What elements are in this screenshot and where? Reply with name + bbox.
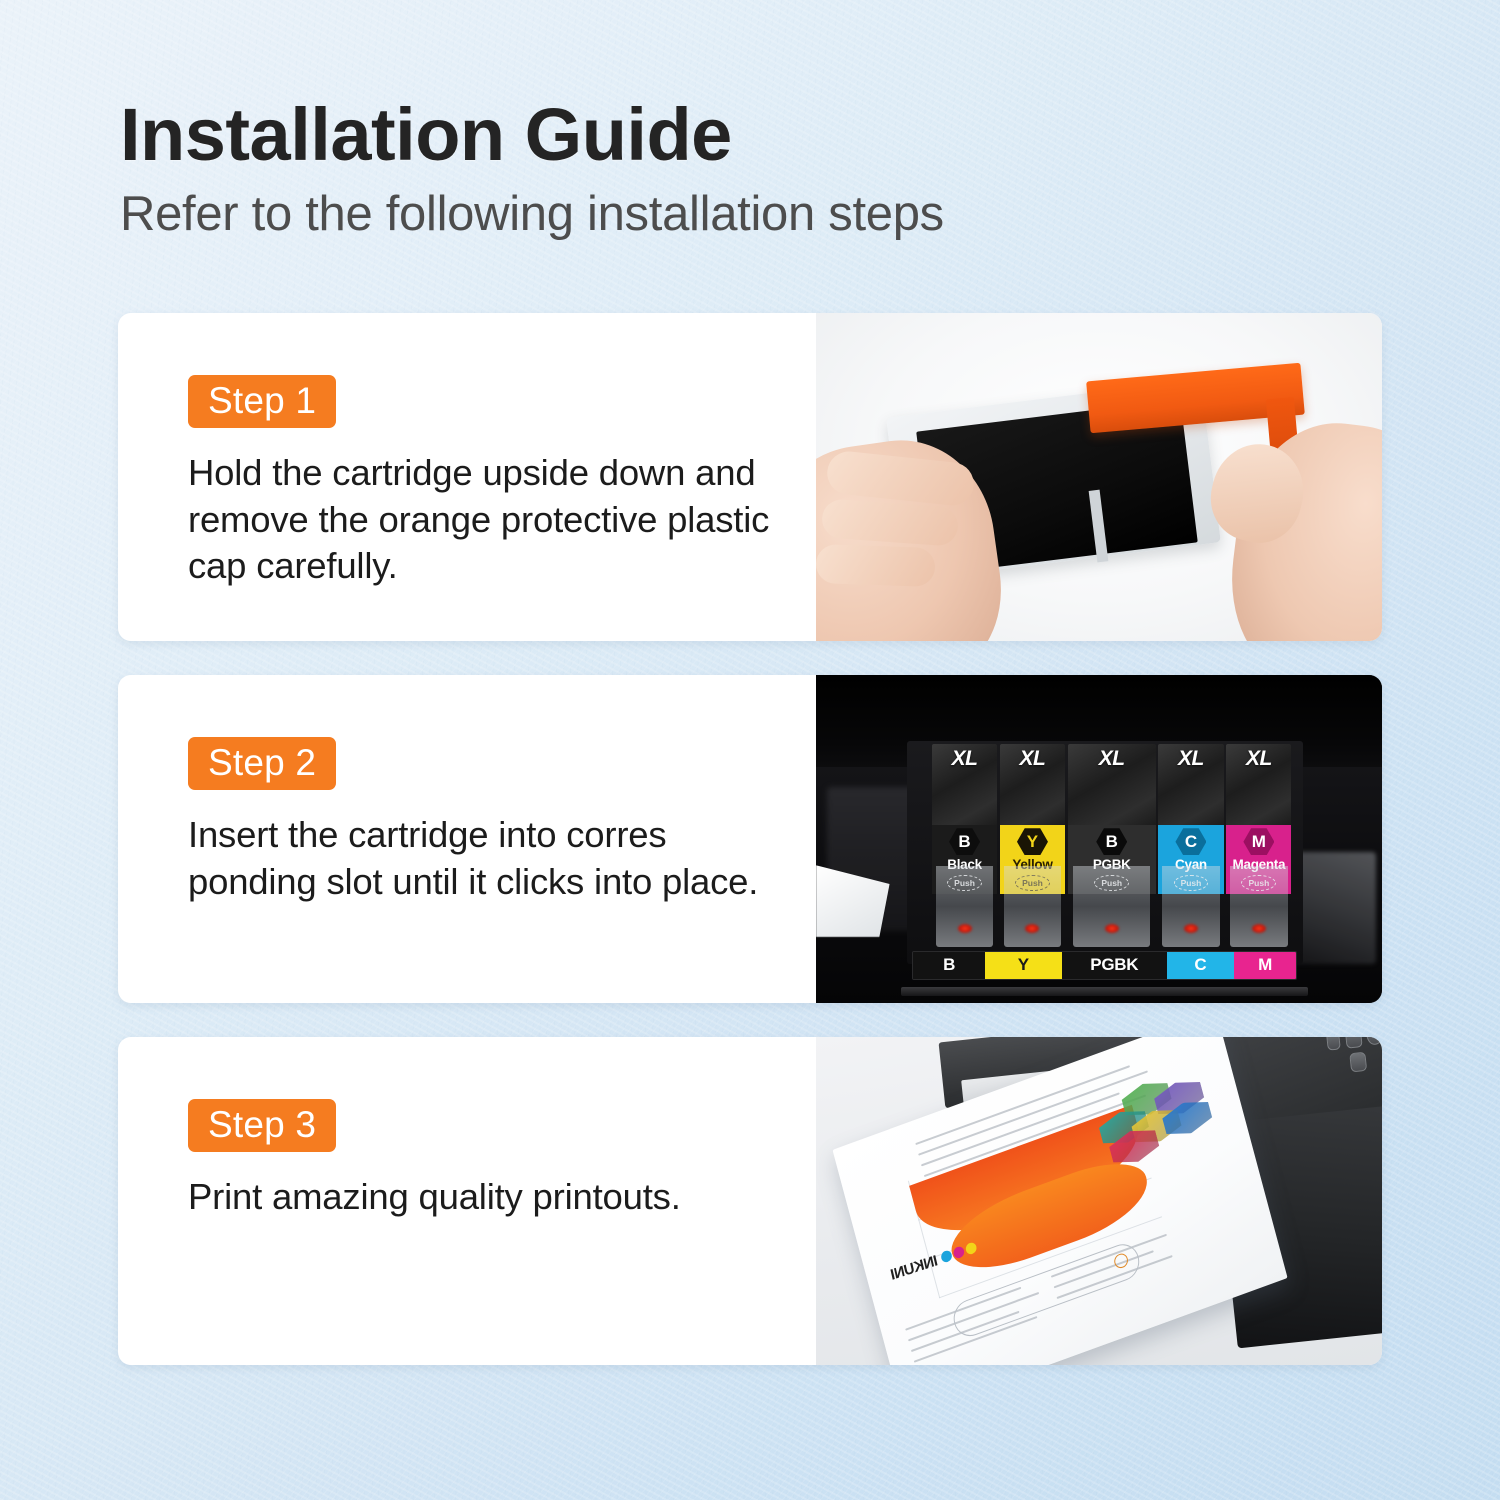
step-card-2: Step 2 Insert the cartridge into corres … — [118, 675, 1382, 1003]
printed-color-cubes — [1085, 1063, 1218, 1174]
logo-dot — [953, 1246, 966, 1260]
step-1-photo — [816, 313, 1382, 641]
cartridge-black[interactable]: XLBBlackPush — [932, 744, 997, 947]
step-1-text: Step 1 Hold the cartridge upside down an… — [118, 313, 816, 641]
cartridge-hex-badge: C — [1175, 828, 1206, 855]
logo-text: INKUNI — [889, 1253, 939, 1285]
step-3-badge: Step 3 — [188, 1099, 336, 1152]
cartridge-clear-body — [1073, 866, 1150, 947]
cartridge-indicator-light — [1184, 924, 1198, 933]
cartridge-clear-body — [1162, 866, 1219, 947]
cartridge-hex-badge: B — [1096, 828, 1127, 855]
slot-label-b: B — [913, 952, 985, 980]
cartridge-hex-badge: Y — [1017, 828, 1048, 855]
cartridge-xl-label: XL — [1246, 747, 1272, 771]
slot-label-c: C — [1167, 952, 1234, 980]
carriage-rail — [901, 987, 1309, 997]
panel-button-2[interactable] — [1345, 1037, 1362, 1049]
cartridge-pgbk[interactable]: XLBPGBKPush — [1068, 744, 1156, 947]
step-2-text: Step 2 Insert the cartridge into corres … — [118, 675, 816, 1003]
cartridge-clear-body — [1230, 866, 1287, 947]
steps-list: Step 1 Hold the cartridge upside down an… — [118, 313, 1382, 1365]
panel-button-4[interactable] — [1349, 1052, 1366, 1072]
step-2-description: Insert the cartridge into corres ponding… — [188, 812, 782, 905]
step-3-photo: INKUNI — [816, 1037, 1382, 1365]
cartridge-cyan[interactable]: XLCCyanPush — [1158, 744, 1223, 947]
cartridge-xl-label: XL — [1099, 747, 1125, 771]
slot-label-pgbk: PGBK — [1062, 952, 1167, 980]
cartridge-hex-badge: B — [949, 828, 980, 855]
logo-dot — [965, 1242, 978, 1256]
cartridge-indicator-light — [1252, 924, 1266, 933]
step-3-text: Step 3 Print amazing quality printouts. — [118, 1037, 816, 1365]
slot-label-m: M — [1234, 952, 1296, 980]
cartridge-hex-badge: M — [1243, 828, 1274, 855]
page-title: Installation Guide — [120, 96, 944, 174]
cartridge-clear-body — [936, 866, 993, 947]
cartridge-xl-label: XL — [1020, 747, 1046, 771]
cartridge-xl-label: XL — [1178, 747, 1204, 771]
cartridge-indicator-light — [1025, 924, 1039, 933]
logo-dot — [940, 1250, 953, 1264]
page-subtitle: Refer to the following installation step… — [120, 188, 944, 242]
step-card-1: Step 1 Hold the cartridge upside down an… — [118, 313, 1382, 641]
cartridge-indicator-light — [958, 924, 972, 933]
power-button[interactable] — [1366, 1037, 1382, 1046]
step-3-description: Print amazing quality printouts. — [188, 1174, 782, 1221]
slot-label-y: Y — [985, 952, 1062, 980]
step-1-badge: Step 1 — [188, 375, 336, 428]
cartridge-yellow[interactable]: XLYYellowPush — [1000, 744, 1065, 947]
cartridge-magenta[interactable]: XLMMagentaPush — [1226, 744, 1291, 947]
printed-sheet: INKUNI — [832, 1037, 1287, 1365]
slot-color-strip: BYPGBKCM — [912, 951, 1297, 981]
cartridge-xl-label: XL — [952, 747, 978, 771]
step-1-description: Hold the cartridge upside down and remov… — [188, 450, 782, 590]
step-2-badge: Step 2 — [188, 737, 336, 790]
cartridge-clear-body — [1004, 866, 1061, 947]
step-2-photo: XLBBlackPushXLYYellowPushXLBPGBKPushXLCC… — [816, 675, 1382, 1003]
left-finger-3 — [816, 544, 936, 587]
panel-button-1[interactable] — [1326, 1037, 1341, 1051]
cartridge-indicator-light — [1105, 924, 1119, 933]
step-card-3: Step 3 Print amazing quality printouts. — [118, 1037, 1382, 1365]
page-header: Installation Guide Refer to the followin… — [120, 96, 944, 242]
printed-gauge-marker — [1113, 1252, 1130, 1270]
